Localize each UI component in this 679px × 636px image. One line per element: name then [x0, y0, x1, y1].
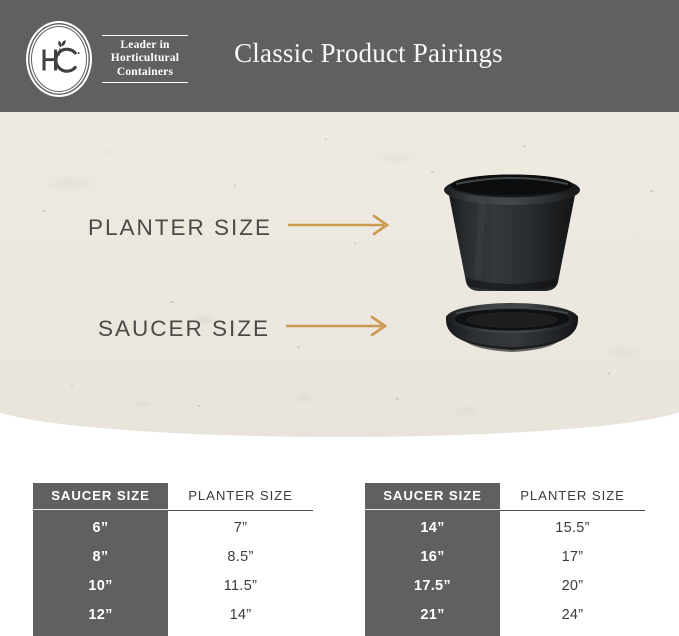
header-separator [365, 509, 500, 511]
table-row: 10” [33, 572, 168, 601]
page-title: Classic Product Pairings [0, 38, 679, 69]
table-row: 14” [168, 601, 313, 630]
table-body: 14” 16” 17.5” 21” 15.5” 17” 20” 24” [365, 508, 645, 636]
infographic-page: Leader in Horticultural Containers Class… [0, 0, 679, 636]
table-body: 6” 8” 10” 12” 7” 8.5” 11.5” 14” [33, 508, 313, 636]
table-row: 21” [365, 601, 500, 630]
table-row: 24” [500, 601, 645, 630]
column-header-saucer-size: SAUCER SIZE [365, 483, 500, 508]
table-row: 8.5” [168, 543, 313, 572]
table-row: 17” [500, 543, 645, 572]
table-header-row: SAUCER SIZE PLANTER SIZE [33, 483, 313, 508]
size-table-large: SAUCER SIZE PLANTER SIZE 14” 16” 17.5” 2… [365, 483, 645, 636]
planter-size-callout: PLANTER SIZE [88, 214, 394, 241]
table-row: 16” [365, 543, 500, 572]
column-header-planter-size: PLANTER SIZE [500, 483, 645, 508]
table-row: 7” [168, 514, 313, 543]
header-bar: Leader in Horticultural Containers Class… [0, 0, 679, 112]
planter-size-column: 7” 8.5” 11.5” 14” [168, 508, 313, 636]
saucer-size-callout: SAUCER SIZE [98, 315, 392, 342]
table-row: 15.5” [500, 514, 645, 543]
table-row: 11.5” [168, 572, 313, 601]
planter-size-label: PLANTER SIZE [88, 215, 272, 241]
header-separator [33, 509, 168, 511]
arrow-right-icon [286, 315, 392, 342]
header-underline [500, 510, 645, 511]
hc-monogram-icon [36, 38, 82, 80]
column-header-saucer-size: SAUCER SIZE [33, 483, 168, 508]
planter-size-column: 15.5” 17” 20” 24” [500, 508, 645, 636]
table-row: 8” [33, 543, 168, 572]
arrow-right-icon [288, 214, 394, 241]
header-underline [168, 510, 313, 511]
saucer-size-label: SAUCER SIZE [98, 316, 270, 342]
table-row: 12” [33, 601, 168, 630]
size-table-small: SAUCER SIZE PLANTER SIZE 6” 8” 10” 12” 7… [33, 483, 313, 636]
saucer-image [440, 300, 584, 361]
saucer-size-column: 6” 8” 10” 12” [33, 508, 168, 636]
table-row: 17.5” [365, 572, 500, 601]
table-row: 6” [33, 514, 168, 543]
column-header-planter-size: PLANTER SIZE [168, 483, 313, 508]
diagram-panel: PLANTER SIZE SAUCER SIZE [0, 112, 679, 440]
saucer-size-column: 14” 16” 17.5” 21” [365, 508, 500, 636]
table-row: 14” [365, 514, 500, 543]
planter-pot-image [438, 170, 586, 301]
table-row: 20” [500, 572, 645, 601]
table-header-row: SAUCER SIZE PLANTER SIZE [365, 483, 645, 508]
